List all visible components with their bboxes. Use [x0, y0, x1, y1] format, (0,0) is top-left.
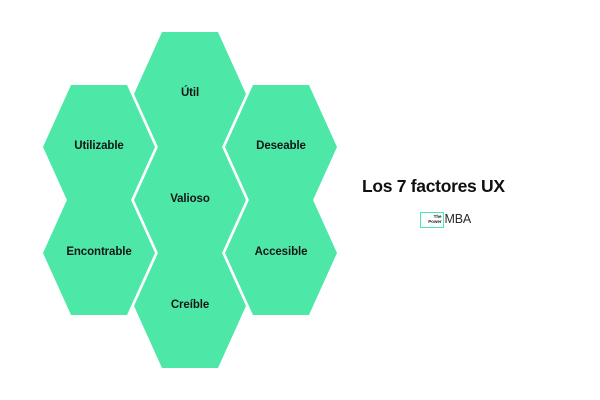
- hex-label-util: Útil: [181, 88, 199, 100]
- info-block: Los 7 factores UX The Power MBA: [362, 176, 562, 228]
- thepowermba-logo: The Power MBA: [420, 211, 471, 228]
- hex-label-creible: Creíble: [171, 300, 209, 312]
- hex-label-valioso: Valioso: [170, 194, 210, 206]
- hex-label-deseable: Deseable: [256, 141, 306, 153]
- ux-honeycomb-diagram: Útil Utilizable Deseable Valioso Encontr…: [33, 32, 347, 368]
- logo-mark-line-power: Power: [428, 220, 441, 225]
- hex-cell-accesible[interactable]: Accesible: [225, 191, 337, 315]
- logo-wordmark: MBA: [445, 213, 472, 226]
- hex-label-accesible: Accesible: [255, 247, 308, 259]
- hex-cell-valioso[interactable]: Valioso: [134, 138, 246, 262]
- logo-mark-icon: The Power: [420, 212, 444, 228]
- hex-label-utilizable: Utilizable: [74, 141, 123, 153]
- page-title: Los 7 factores UX: [362, 176, 562, 196]
- slide-canvas: Útil Utilizable Deseable Valioso Encontr…: [0, 0, 600, 400]
- hex-cell-creible[interactable]: Creíble: [134, 244, 246, 368]
- hex-cell-utilizable[interactable]: Utilizable: [43, 85, 155, 209]
- hex-label-encontrable: Encontrable: [66, 247, 131, 259]
- hex-cell-deseable[interactable]: Deseable: [225, 85, 337, 209]
- hex-cell-util[interactable]: Útil: [134, 32, 246, 156]
- hex-cell-encontrable[interactable]: Encontrable: [43, 191, 155, 315]
